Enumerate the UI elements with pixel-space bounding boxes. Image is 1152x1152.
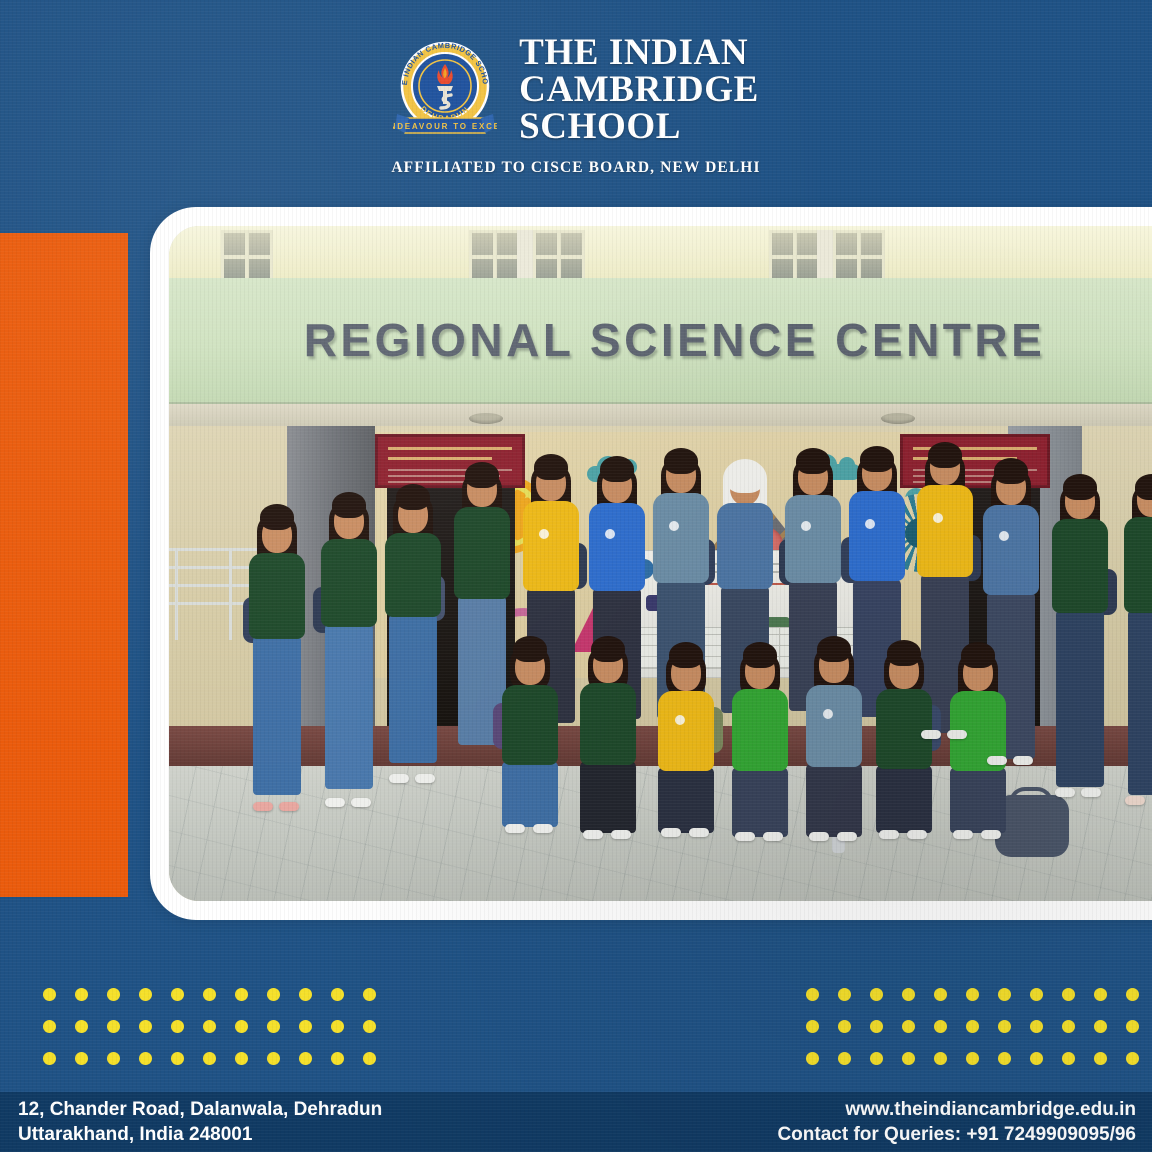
- dot: [171, 1052, 184, 1065]
- uniform-pants: [876, 765, 932, 833]
- uniform-pants: [732, 767, 788, 837]
- dot: [838, 1020, 851, 1033]
- website-link[interactable]: www.theindiancambridge.edu.in: [777, 1097, 1136, 1122]
- dot: [267, 1052, 280, 1065]
- dot: [43, 1052, 56, 1065]
- uniform-shirt: [653, 493, 709, 583]
- dot: [870, 1020, 883, 1033]
- uniform-shirt: [523, 501, 579, 591]
- dot: [966, 1020, 979, 1033]
- window-icon: [469, 230, 521, 284]
- dot: [363, 1020, 376, 1033]
- school-name-line1: THE INDIAN: [519, 34, 759, 71]
- dot: [139, 1020, 152, 1033]
- dot: [1094, 988, 1107, 1001]
- poster-canvas: THE INDIAN CAMBRIDGE SCHOOL DEHRADUN END…: [0, 0, 1152, 1152]
- dot: [998, 1052, 1011, 1065]
- address-line-1: 12, Chander Road, Dalanwala, Dehradun: [18, 1097, 382, 1122]
- dot: [203, 1052, 216, 1065]
- affiliation-text: AFFILIATED TO CISCE BOARD, NEW DELHI: [391, 159, 760, 177]
- uniform-shirt: [385, 533, 441, 617]
- uniform-shirt: [580, 683, 636, 765]
- dot: [966, 1052, 979, 1065]
- dot: [1030, 1020, 1043, 1033]
- dot: [107, 1020, 120, 1033]
- dot: [998, 988, 1011, 1001]
- dot: [75, 1020, 88, 1033]
- footer-contact: www.theindiancambridge.edu.in Contact fo…: [777, 1097, 1136, 1147]
- uniform-pants: [389, 613, 437, 763]
- dot: [139, 988, 152, 1001]
- dot: [1062, 1052, 1075, 1065]
- dot: [934, 988, 947, 1001]
- dot: [203, 1020, 216, 1033]
- photo-card: REGIONAL SCIENCE CENTRE: [150, 207, 1152, 920]
- uniform-shirt: [1124, 517, 1152, 613]
- dot: [1094, 1052, 1107, 1065]
- window-icon: [533, 230, 585, 284]
- dot: [363, 1052, 376, 1065]
- duffel-bag-icon: [995, 795, 1069, 857]
- uniform-shirt: [732, 689, 788, 771]
- window-icon: [833, 230, 885, 284]
- dot: [838, 988, 851, 1001]
- ceiling-lamp-icon: [469, 413, 503, 424]
- dot: [75, 988, 88, 1001]
- uniform-shirt: [806, 685, 862, 767]
- dot: [966, 988, 979, 1001]
- dot: [902, 1052, 915, 1065]
- uniform-shirt: [1052, 519, 1108, 613]
- student-figure: [319, 499, 379, 807]
- dot: [870, 988, 883, 1001]
- dot: [203, 988, 216, 1001]
- uniform-shirt: [876, 689, 932, 769]
- dot: [1030, 1052, 1043, 1065]
- brand-row: THE INDIAN CAMBRIDGE SCHOOL DEHRADUN END…: [393, 34, 759, 145]
- student-figure: [247, 511, 307, 811]
- uniform-shirt: [717, 503, 773, 589]
- uniform-shirt: [249, 553, 305, 639]
- dot: [934, 1020, 947, 1033]
- uniform-pants: [253, 635, 301, 795]
- dot: [299, 988, 312, 1001]
- dot: [235, 1020, 248, 1033]
- uniform-pants: [580, 761, 636, 833]
- student-figure: [1049, 481, 1111, 797]
- school-crest-icon: THE INDIAN CAMBRIDGE SCHOOL DEHRADUN END…: [393, 38, 497, 142]
- dot: [838, 1052, 851, 1065]
- dot: [806, 1052, 819, 1065]
- uniform-pants: [325, 623, 373, 789]
- dot: [171, 1020, 184, 1033]
- dot: [1062, 988, 1075, 1001]
- contact-number[interactable]: Contact for Queries: +91 7249909095/96: [777, 1122, 1136, 1147]
- school-name-line3: SCHOOL: [519, 108, 759, 145]
- dot-pattern-left: [43, 988, 376, 1065]
- dot: [331, 1020, 344, 1033]
- dot: [331, 988, 344, 1001]
- uniform-pants: [658, 767, 714, 833]
- poster-header: THE INDIAN CAMBRIDGE SCHOOL DEHRADUN END…: [0, 0, 1152, 200]
- uniform-shirt: [321, 539, 377, 627]
- dot: [331, 1052, 344, 1065]
- dot: [806, 1020, 819, 1033]
- uniform-shirt: [849, 491, 905, 581]
- uniform-shirt: [658, 691, 714, 771]
- uniform-pants: [806, 763, 862, 837]
- building-sign-text: REGIONAL SCIENCE CENTRE: [169, 304, 1152, 376]
- dot: [902, 988, 915, 1001]
- uniform-shirt: [785, 495, 841, 583]
- uniform-shirt: [917, 485, 973, 577]
- dot: [267, 1020, 280, 1033]
- uniform-shirt: [983, 505, 1039, 595]
- uniform-pants: [1056, 609, 1104, 787]
- svg-text:ENDEAVOUR TO EXCEL: ENDEAVOUR TO EXCEL: [393, 122, 497, 131]
- dot: [235, 1052, 248, 1065]
- window-icon: [221, 230, 273, 284]
- dot: [1030, 988, 1043, 1001]
- uniform-pants: [1128, 609, 1152, 795]
- uniform-shirt: [502, 685, 558, 765]
- dot: [267, 988, 280, 1001]
- student-figure: [1121, 481, 1152, 805]
- dot-pattern-right: [806, 988, 1139, 1065]
- footer-bar: 12, Chander Road, Dalanwala, Dehradun Ut…: [0, 1092, 1152, 1152]
- dot: [1126, 1052, 1139, 1065]
- address-line-2: Uttarakhand, India 248001: [18, 1122, 382, 1147]
- student-group-photo: REGIONAL SCIENCE CENTRE: [169, 226, 1152, 901]
- school-name-line2: CAMBRIDGE: [519, 71, 759, 108]
- dot: [139, 1052, 152, 1065]
- dot: [75, 1052, 88, 1065]
- student-figure: [383, 491, 443, 783]
- ceiling-lamp-icon: [881, 413, 915, 424]
- dot: [1094, 1020, 1107, 1033]
- dot: [43, 1020, 56, 1033]
- dot: [107, 988, 120, 1001]
- dot: [870, 1052, 883, 1065]
- window-icon: [769, 230, 821, 284]
- uniform-pants: [502, 761, 558, 827]
- dot: [171, 988, 184, 1001]
- dot: [299, 1020, 312, 1033]
- dot: [107, 1052, 120, 1065]
- uniform-shirt: [589, 503, 645, 591]
- uniform-pants: [950, 767, 1006, 833]
- dot: [806, 988, 819, 1001]
- footer-address: 12, Chander Road, Dalanwala, Dehradun Ut…: [18, 1097, 382, 1147]
- dot: [998, 1020, 1011, 1033]
- dot: [934, 1052, 947, 1065]
- dot: [1126, 1020, 1139, 1033]
- dot: [902, 1020, 915, 1033]
- dot: [299, 1052, 312, 1065]
- dot: [363, 988, 376, 1001]
- orange-accent-block: [0, 233, 128, 897]
- dot: [1126, 988, 1139, 1001]
- dot: [1062, 1020, 1075, 1033]
- uniform-shirt: [454, 507, 510, 599]
- dot: [235, 988, 248, 1001]
- dot: [43, 988, 56, 1001]
- school-name: THE INDIAN CAMBRIDGE SCHOOL: [519, 34, 759, 145]
